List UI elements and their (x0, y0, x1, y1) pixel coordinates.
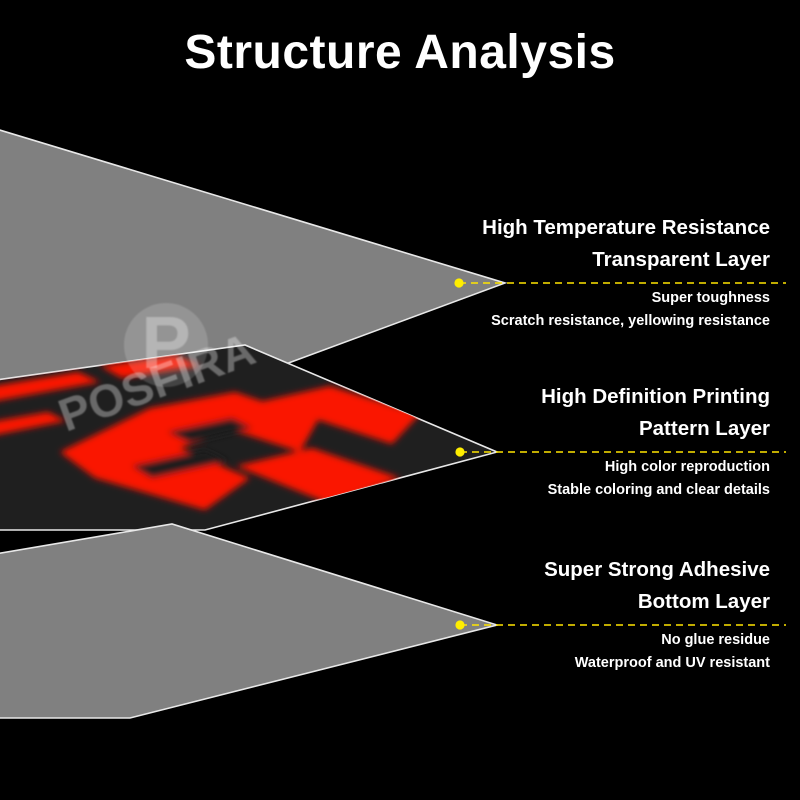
layer-heading: Super Strong Adhesive (265, 554, 785, 585)
layer-feature: Scratch resistance, yellowing resistance (265, 310, 785, 332)
layer-name: Pattern Layer (265, 412, 785, 445)
layer-feature: Super toughness (265, 287, 785, 310)
layer-heading: High Definition Printing (265, 381, 785, 412)
annotation-pattern-layer: High Definition Printing Pattern Layer H… (265, 381, 785, 501)
rule-spacer (265, 445, 785, 456)
layer-feature: High color reproduction (265, 456, 785, 479)
layer-feature: Stable coloring and clear details (265, 479, 785, 501)
annotation-bottom-layer: Super Strong Adhesive Bottom Layer No gl… (265, 554, 785, 674)
rule-spacer (265, 276, 785, 287)
layer-heading: High Temperature Resistance (265, 212, 785, 243)
layer-feature: No glue residue (265, 629, 785, 652)
structure-analysis-infographic: Structure Analysis (0, 0, 800, 800)
rule-spacer (265, 618, 785, 629)
annotation-transparent-layer: High Temperature Resistance Transparent … (265, 212, 785, 332)
layer-feature: Waterproof and UV resistant (265, 652, 785, 674)
layer-name: Bottom Layer (265, 585, 785, 618)
layer-name: Transparent Layer (265, 243, 785, 276)
